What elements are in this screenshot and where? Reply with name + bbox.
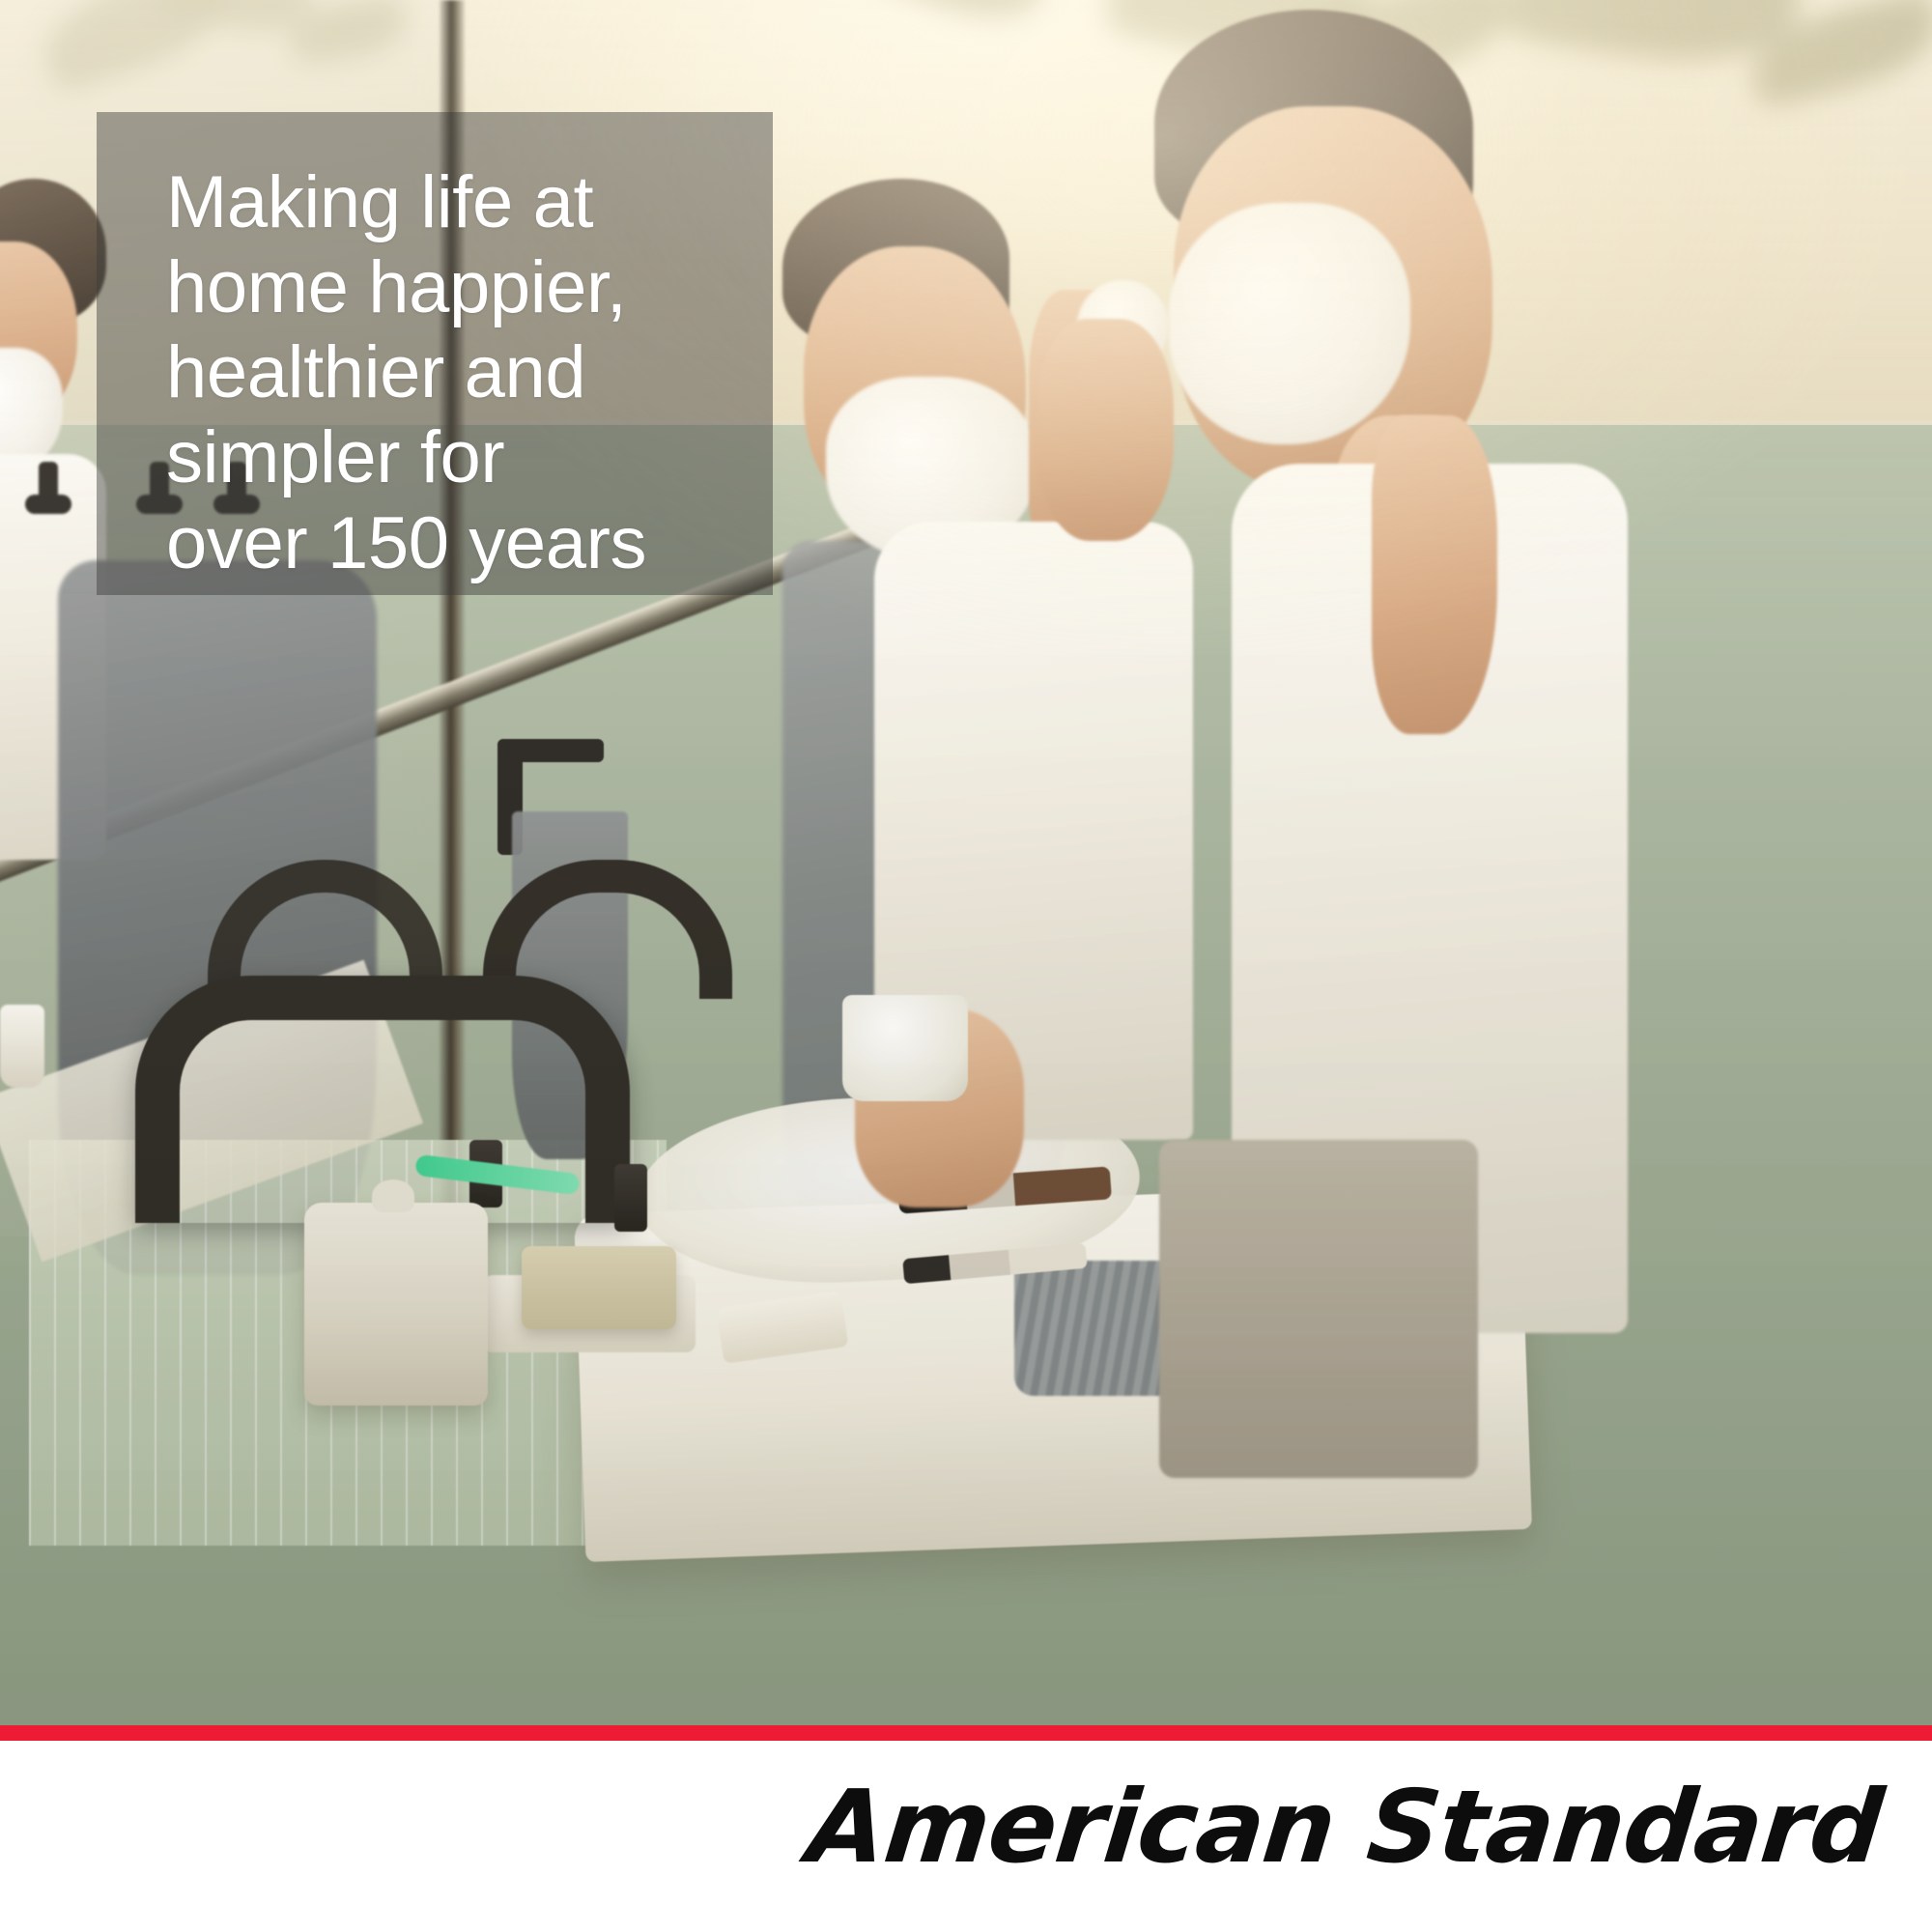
ceramic-jar	[304, 1203, 488, 1406]
shaving-cream-cup	[842, 995, 968, 1101]
headline-overlay-box: Making life at home happier, healthier a…	[97, 112, 773, 595]
wall-hook-left	[39, 462, 58, 512]
shaving-cup-reflection	[0, 1005, 44, 1088]
soap-bar	[522, 1246, 676, 1329]
brand-red-divider	[0, 1725, 1932, 1741]
hero-photo: Making life at home happier, healthier a…	[0, 0, 1932, 1725]
footer-bar: American Standard	[0, 1741, 1932, 1932]
headline-text: Making life at home happier, healthier a…	[166, 160, 726, 586]
american-standard-logo: American Standard	[803, 1768, 1888, 1886]
faucet-handle-right	[614, 1164, 647, 1232]
advertisement-canvas: Making life at home happier, healthier a…	[0, 0, 1932, 1932]
